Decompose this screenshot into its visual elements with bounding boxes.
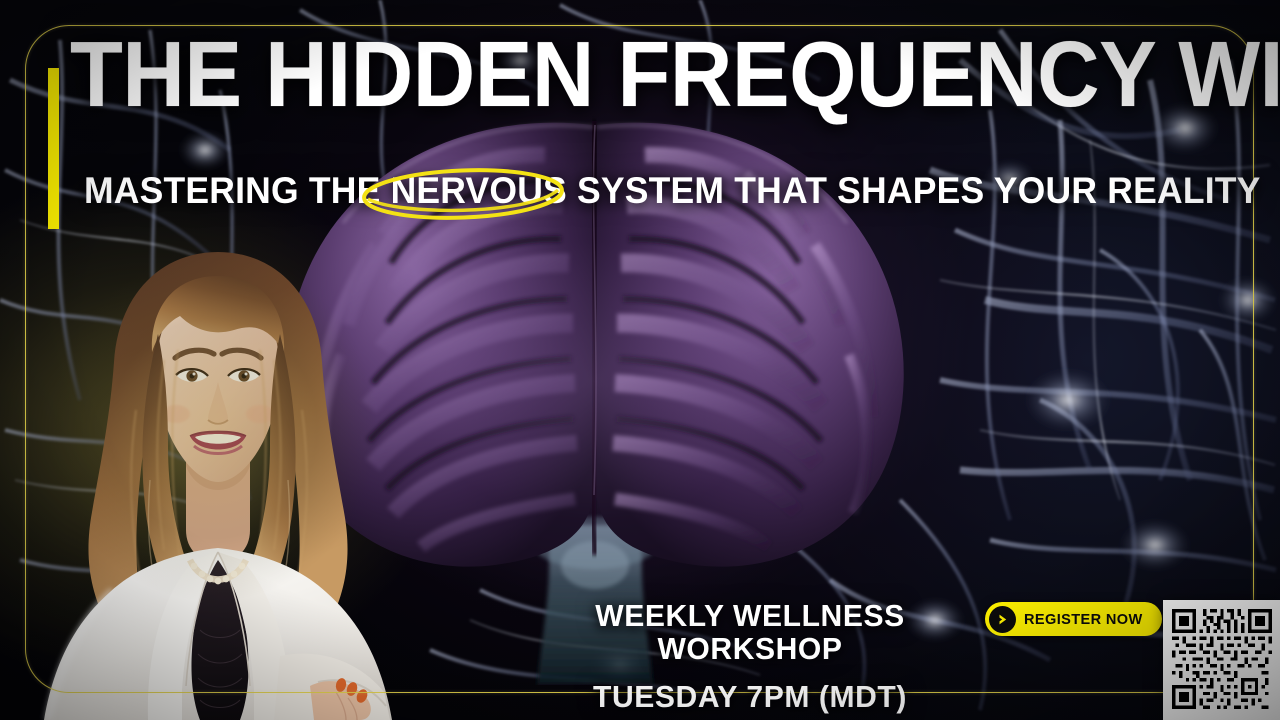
presenter-portrait-illustration: [18, 230, 418, 720]
page-title: THE HIDDEN FREQUENCY WITHIN: [70, 28, 1167, 121]
register-now-label: REGISTER NOW: [1024, 611, 1143, 628]
qr-code-matrix: [1172, 609, 1272, 709]
subtitle: MASTERING THE NERVOUS SYSTEM THAT SHAPES…: [84, 172, 1217, 209]
qr-code[interactable]: [1163, 600, 1280, 720]
accent-bar: [48, 68, 59, 229]
event-schedule: TUESDAY 7PM (MDT): [527, 681, 973, 714]
event-series: WEEKLY WELLNESS WORKSHOP: [527, 600, 973, 665]
event-details: WEEKLY WELLNESS WORKSHOP TUESDAY 7PM (MD…: [520, 600, 980, 714]
play-chevron-icon: [989, 606, 1016, 633]
promo-banner: THE HIDDEN FREQUENCY WITHIN MASTERING TH…: [0, 0, 1280, 720]
register-now-button[interactable]: REGISTER NOW: [985, 602, 1162, 636]
presenter-photo: [18, 230, 418, 720]
